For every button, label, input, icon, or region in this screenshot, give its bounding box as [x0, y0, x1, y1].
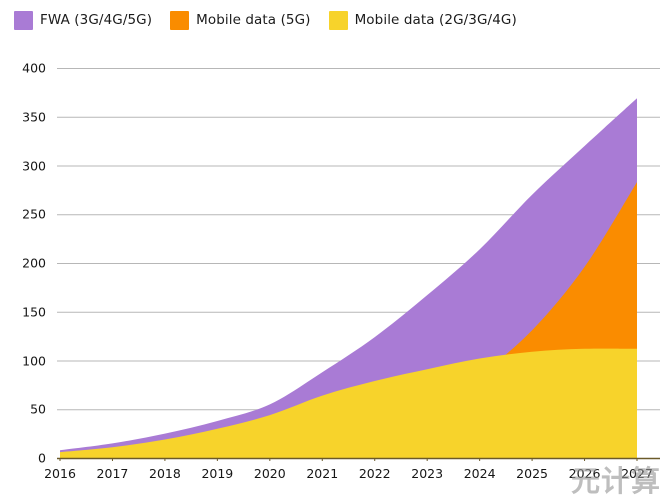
y-tick-label: 400	[6, 61, 46, 76]
x-tick-label: 2020	[254, 466, 286, 481]
x-tick-label: 2019	[201, 466, 233, 481]
y-tick-label: 150	[6, 304, 46, 319]
y-tick-label: 250	[6, 207, 46, 222]
area-series-group	[60, 98, 637, 458]
y-tick-label: 0	[6, 451, 46, 466]
x-tick-label: 2018	[149, 466, 181, 481]
plot-area: 050100150200250300350400 201620172018201…	[0, 0, 667, 498]
x-tick-label: 2021	[306, 466, 338, 481]
y-tick-label: 50	[6, 402, 46, 417]
x-tick-label: 2016	[44, 466, 76, 481]
x-tick-label: 2026	[569, 466, 601, 481]
y-tick-label: 100	[6, 353, 46, 368]
x-tick-label: 2022	[359, 466, 391, 481]
y-tick-label: 300	[6, 158, 46, 173]
x-tick-label: 2017	[97, 466, 129, 481]
plot-svg	[0, 0, 667, 498]
y-tick-label: 350	[6, 109, 46, 124]
x-tick-label: 2023	[411, 466, 443, 481]
x-tick-label: 2025	[516, 466, 548, 481]
x-tick-label: 2024	[464, 466, 496, 481]
stacked-area-chart: FWA (3G/4G/5G) Mobile data (5G) Mobile d…	[0, 0, 667, 498]
y-tick-label: 200	[6, 256, 46, 271]
x-tick-label: 2027	[621, 466, 653, 481]
